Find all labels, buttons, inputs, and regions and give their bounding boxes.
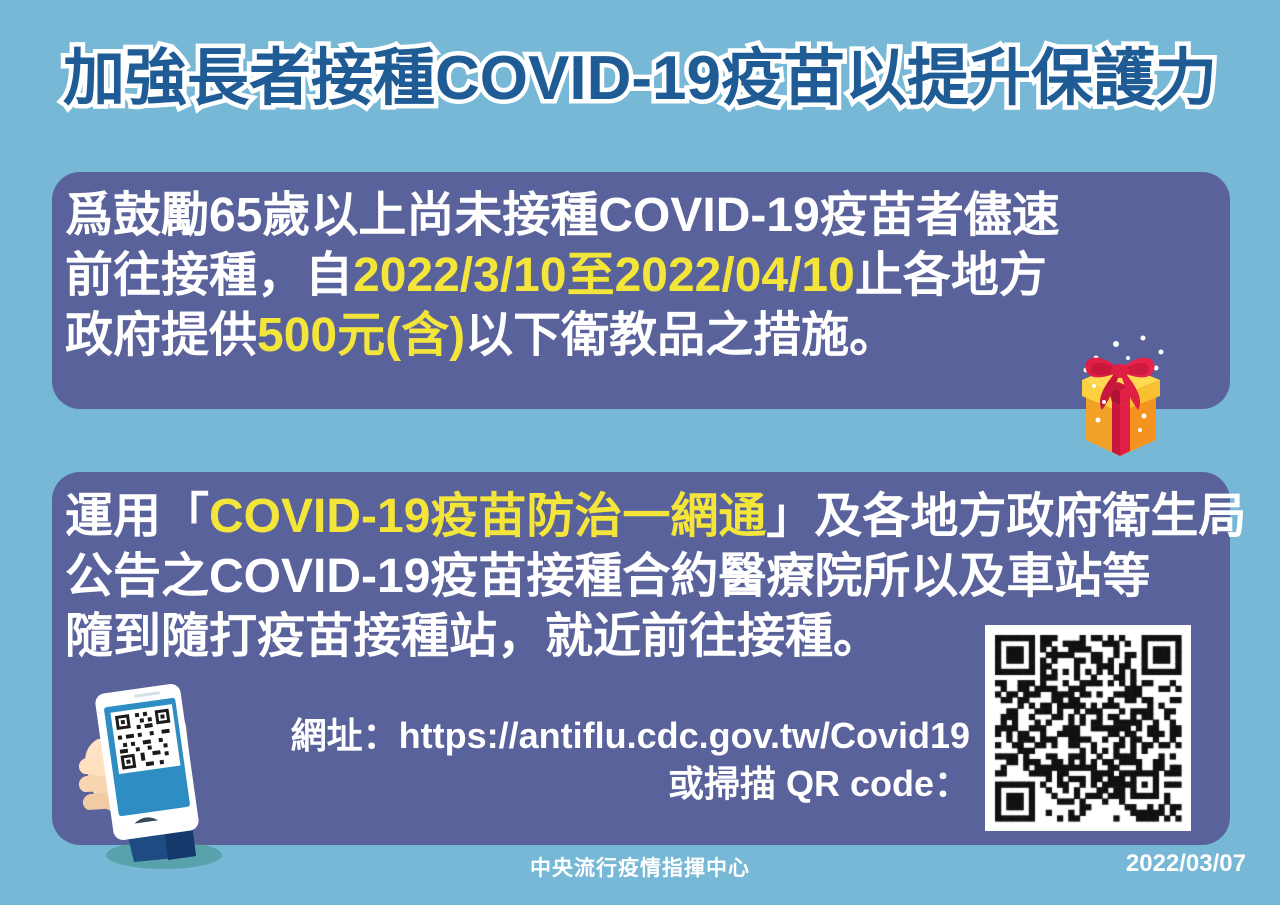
incentive-line-1-text: 爲鼓勵65歲以上尚未接種COVID-19疫苗者儘速 [65, 189, 1060, 242]
incentive-line-3-suffix: 以下衛教品之措施。 [465, 309, 897, 362]
incentive-line-2-suffix: 止各地方 [855, 249, 1047, 302]
where-line-2: 公告之COVID-19疫苗接種合約醫療院所以及車站等 [65, 547, 1225, 607]
qr-code-icon[interactable] [985, 625, 1191, 831]
end-date-highlight: 2022/04/10 [615, 249, 855, 302]
footer-organization: 中央流行疫情指揮中心 [0, 852, 1280, 882]
incentive-text-block: 爲鼓勵65歲以上尚未接種COVID-19疫苗者儘速 前往接種，自2022/3/1… [65, 186, 1225, 366]
page-title: 加強長者接種COVID-19疫苗以提升保護力 [0, 46, 1280, 111]
where-line-1-prefix: 運用「 [65, 490, 209, 543]
gift-box-icon [1060, 330, 1210, 460]
poster-root: 加強長者接種COVID-19疫苗以提升保護力 爲鼓勵65歲以上尚未接種COVID… [0, 0, 1280, 905]
url-block: 網址：https://antiflu.cdc.gov.tw/Covid19 或掃… [200, 712, 970, 808]
incentive-line-3: 政府提供500元(含)以下衛教品之措施。 [65, 306, 1225, 366]
footer-date: 2022/03/07 [1126, 850, 1246, 878]
where-line-1: 運用「COVID-19疫苗防治一網通」及各地方政府衛生局 [65, 487, 1225, 547]
website-url[interactable]: 網址：https://antiflu.cdc.gov.tw/Covid19 [200, 712, 970, 760]
incentive-line-3-prefix: 政府提供 [65, 309, 257, 362]
amount-highlight: 500元(含) [257, 309, 465, 362]
qr-instruction: 或掃描 QR code： [200, 760, 970, 808]
hand-holding-phone-icon [62, 660, 262, 880]
incentive-line-2-prefix: 前往接種，自 [65, 249, 353, 302]
incentive-line-1: 爲鼓勵65歲以上尚未接種COVID-19疫苗者儘速 [65, 186, 1225, 246]
where-line-1-suffix: 」及各地方政府衛生局 [766, 490, 1246, 543]
incentive-line-2: 前往接種，自2022/3/10至2022/04/10止各地方 [65, 246, 1225, 306]
qr-code-canvas [985, 625, 1191, 831]
start-date-highlight: 2022/3/10 [353, 249, 567, 302]
date-separator: 至 [567, 249, 615, 302]
platform-name-highlight: COVID-19疫苗防治一網通 [209, 490, 766, 543]
